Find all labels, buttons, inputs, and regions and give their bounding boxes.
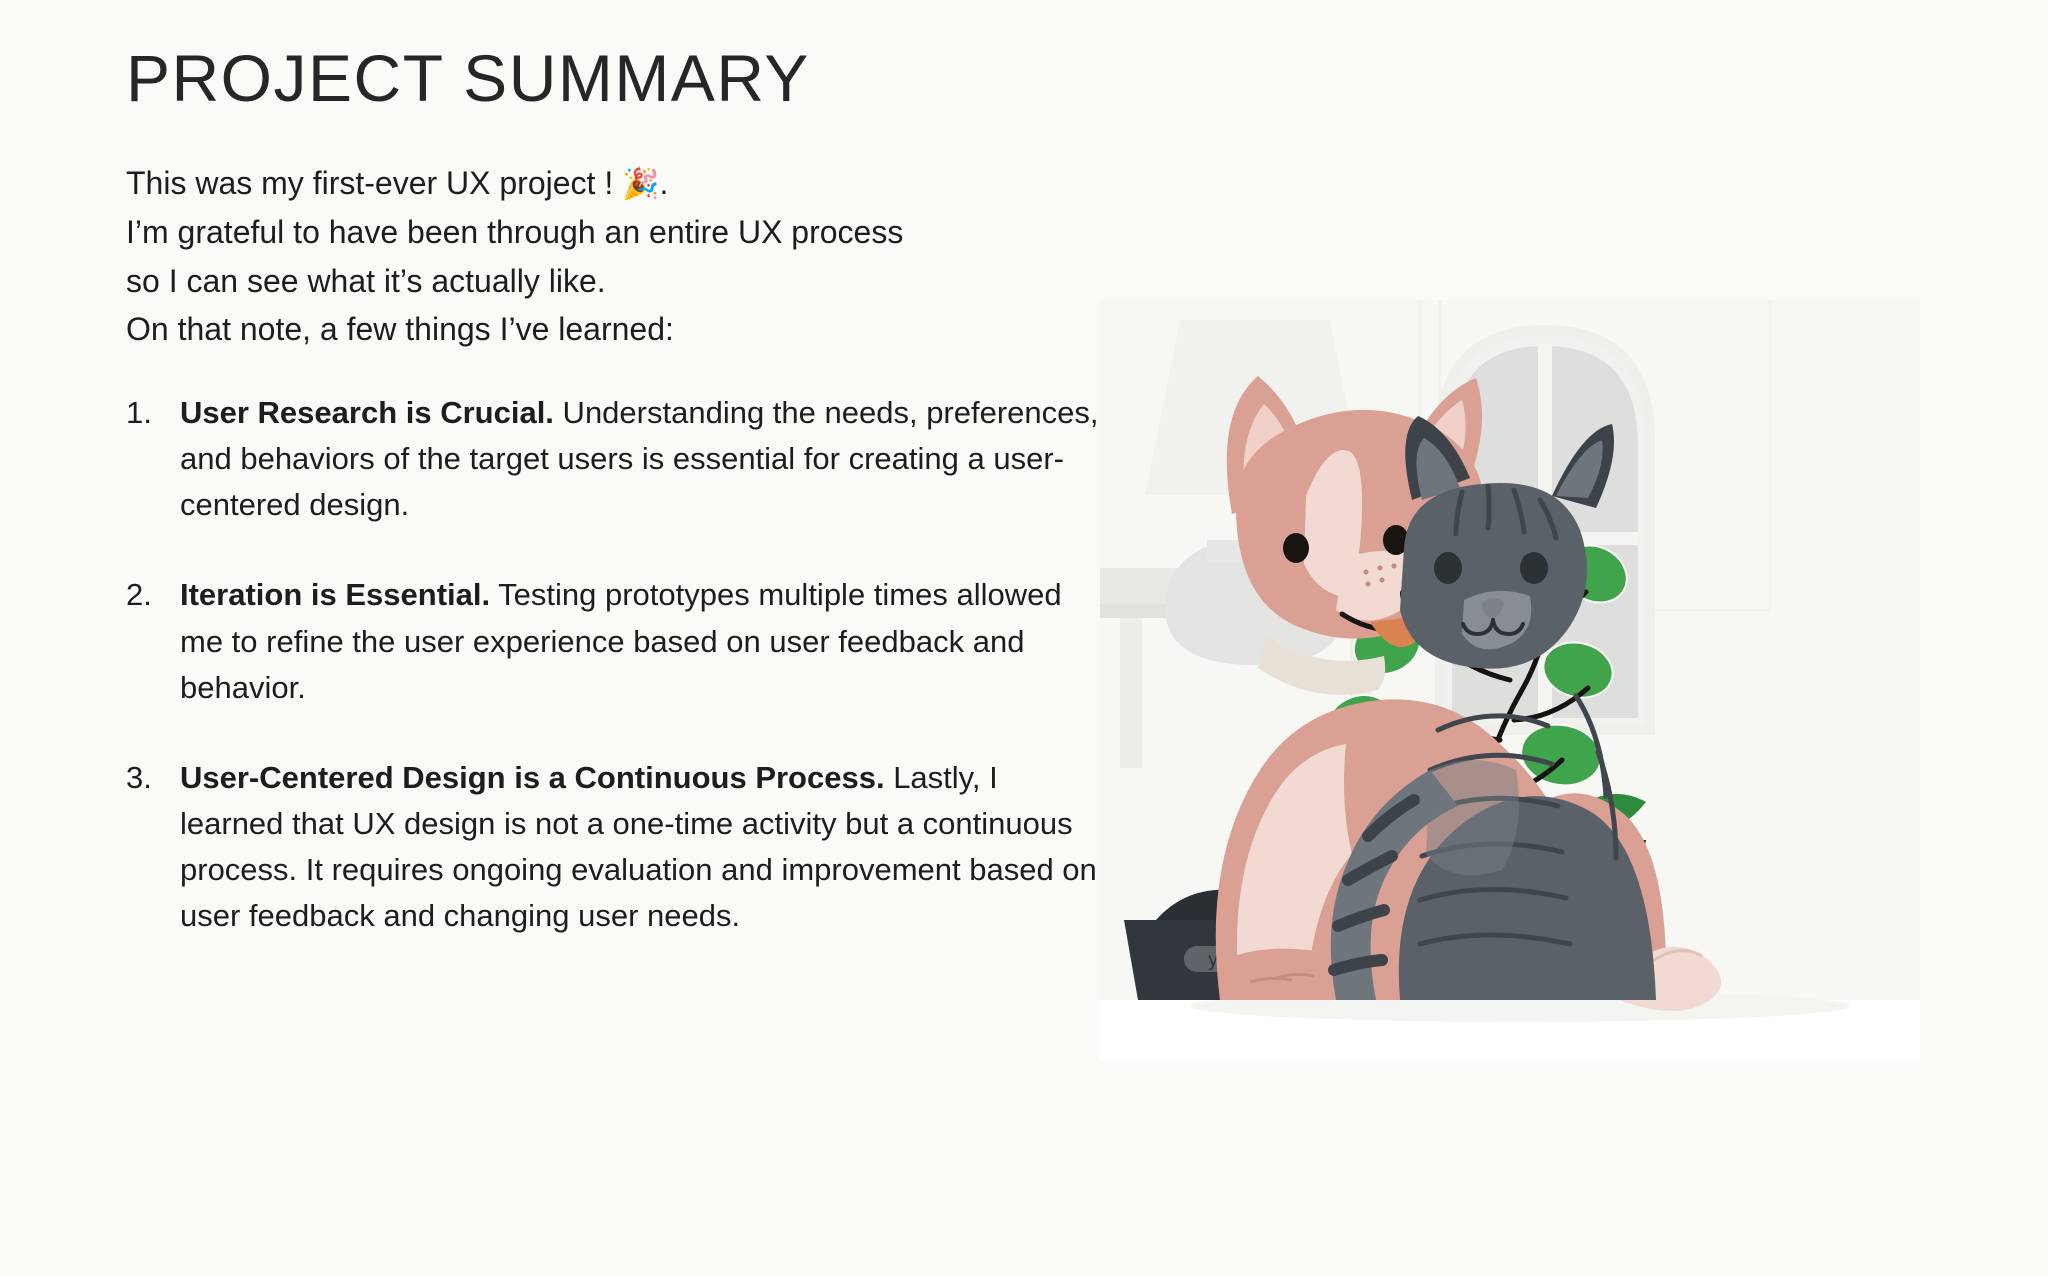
list-item-lead: Iteration is Essential. xyxy=(180,577,490,612)
list-item: 1. User Research is Crucial. Understandi… xyxy=(180,390,1105,529)
dog-eye-left xyxy=(1283,533,1309,563)
list-item: 3. User-Centered Design is a Continuous … xyxy=(180,755,1105,940)
list-item-lead: User Research is Crucial. xyxy=(180,395,554,430)
intro-paragraph: This was my first-ever UX project ! 🎉. I… xyxy=(126,159,1126,354)
slide-root: PROJECT SUMMARY This was my first-ever U… xyxy=(0,0,2048,1276)
pets-illustration: yummy xyxy=(1100,300,1920,1060)
intro-line-1-end: . xyxy=(659,165,668,201)
list-item: 2. Iteration is Essential. Testing proto… xyxy=(180,572,1105,711)
learnings-list: 1. User Research is Crucial. Understandi… xyxy=(126,390,1126,940)
cat-eye-left xyxy=(1434,552,1462,584)
list-item-number: 1. xyxy=(126,390,172,436)
intro-line-1: This was my first-ever UX project ! xyxy=(126,165,622,201)
list-item-lead: User-Centered Design is a Continuous Pro… xyxy=(180,760,885,795)
page-title: PROJECT SUMMARY xyxy=(126,44,1126,113)
list-item-number: 2. xyxy=(126,572,172,618)
intro-line-2: I’m grateful to have been through an ent… xyxy=(126,214,903,250)
list-item-number: 3. xyxy=(126,755,172,801)
intro-line-4: On that note, a few things I’ve learned: xyxy=(126,311,674,347)
party-popper-icon: 🎉 xyxy=(622,168,659,201)
text-column: PROJECT SUMMARY This was my first-ever U… xyxy=(126,44,1126,984)
intro-line-3: so I can see what it’s actually like. xyxy=(126,263,606,299)
cat-eye-right xyxy=(1520,552,1548,584)
